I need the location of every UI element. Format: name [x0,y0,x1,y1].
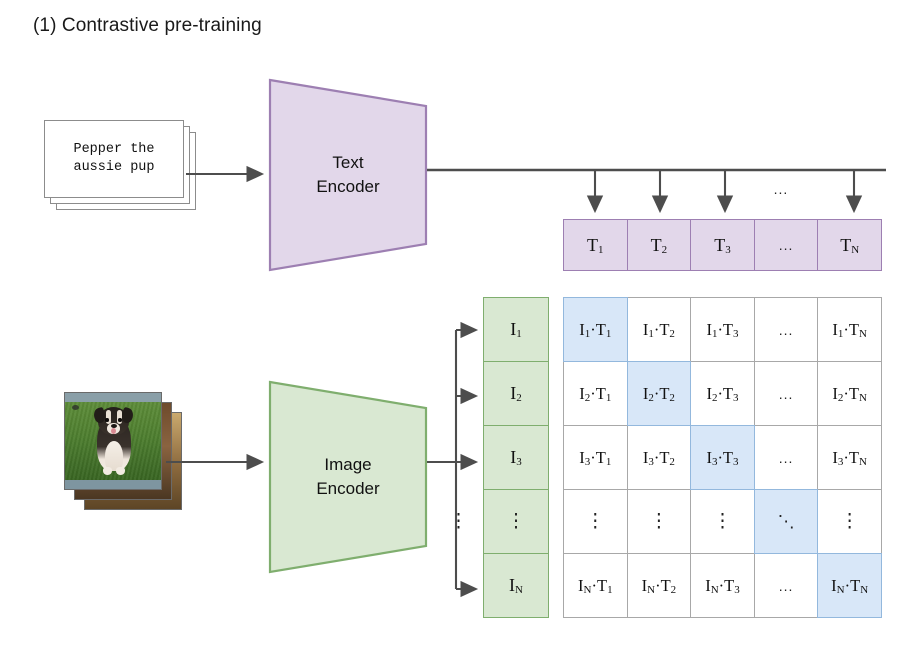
similarity-cell-label: IN·TN [831,576,868,596]
dog-tongue [111,428,116,434]
similarity-cell-hdots-r5c4[interactable]: ... [754,553,819,618]
similarity-cell-label: I1·TN [832,320,867,340]
similarity-cell-label: I1·T1 [579,320,611,340]
similarity-cell-i3-tN[interactable]: I3·TN [817,425,882,490]
subscript: 2 [662,244,668,256]
page-title: (1) Contrastive pre-training [33,15,262,37]
photo-bottom-band [65,480,161,489]
text-encoder-label: Text Encoder [316,151,379,199]
matrix-ellipsis: ⋮ [713,512,732,531]
similarity-cell-hdots-r2c4[interactable]: ... [754,361,819,426]
text-embedding-cell-2[interactable]: T2 [627,219,692,271]
dog-eye-left [105,418,109,422]
vertical-ellipsis: ⋮ [507,512,526,531]
similarity-cell-label: I3·T1 [579,448,611,468]
subscript: 2 [516,392,522,404]
similarity-cell-i3-t2[interactable]: I3·T2 [627,425,692,490]
image-embedding-column: I1I2I3⋮IN [483,297,549,618]
dog-paw-left [103,467,112,475]
matrix-ellipsis: ⋮ [649,512,668,531]
similarity-cell-vdots-r4c3[interactable]: ⋮ [690,489,755,554]
subscript: N [515,584,523,596]
image-embedding-cell-3[interactable]: I3 [483,425,549,490]
matrix-row: I2·T1I2·T2I2·T3...I2·TN [563,361,882,426]
matrix-row: ⋮⋮⋮⋱⋮ [563,489,882,554]
similarity-cell-iN-t3[interactable]: IN·T3 [690,553,755,618]
text-embedding-cell-3[interactable]: T3 [690,219,755,271]
matrix-ellipsis: ⋮ [586,512,605,531]
similarity-cell-label: I2·TN [832,384,867,404]
similarity-cell-iN-t2[interactable]: IN·T2 [627,553,692,618]
similarity-cell-label: IN·T3 [705,576,740,596]
similarity-cell-vdots-r4c5[interactable]: ⋮ [817,489,882,554]
matrix-ellipsis: ⋮ [840,512,859,531]
similarity-cell-vdots-r4c1[interactable]: ⋮ [563,489,628,554]
dog-blaze-right [117,410,122,424]
similarity-cell-label: I3·T3 [706,448,738,468]
similarity-cell-label: I1·T2 [643,320,675,340]
similarity-cell-iN-tN[interactable]: IN·TN [817,553,882,618]
image-embedding-cell-vdots[interactable]: ⋮ [483,489,549,554]
matrix-ellipsis: ... [779,386,794,402]
dog-paw-right [116,467,125,475]
text-embedding-cell-1[interactable]: T1 [563,219,628,271]
similarity-cell-i2-tN[interactable]: I2·TN [817,361,882,426]
image-encoder-label: Image Encoder [316,453,379,501]
matrix-ellipsis: ⋱ [778,513,795,530]
matrix-row: I3·T1I3·T2I3·T3...I3·TN [563,425,882,490]
similarity-cell-i1-t3[interactable]: I1·T3 [690,297,755,362]
similarity-cell-iN-t1[interactable]: IN·T1 [563,553,628,618]
similarity-cell-vdots-r4c2[interactable]: ⋮ [627,489,692,554]
similarity-cell-label: IN·T2 [642,576,677,596]
similarity-cell-i3-t3[interactable]: I3·T3 [690,425,755,490]
image-encoder-block[interactable]: Image Encoder [268,380,428,574]
subscript: N [851,244,859,256]
matrix-ellipsis: ... [779,450,794,466]
matrix-ellipsis: ... [779,578,794,594]
dog-blaze-left [106,410,111,424]
similarity-cell-ddots-r4c4[interactable]: ⋱ [754,489,819,554]
dog-photo-scene [65,393,161,489]
similarity-cell-label: IN·T1 [578,576,613,596]
subscript: 3 [725,244,731,256]
subscript: 1 [598,244,604,256]
matrix-ellipsis: ... [779,322,794,338]
text-card-front [44,120,184,198]
image-branch-vdots: ⋮ [449,512,463,531]
text-embedding-cell-ellipsis[interactable]: ... [754,219,819,271]
similarity-cell-label: I3·T2 [643,448,675,468]
similarity-cell-i2-t1[interactable]: I2·T1 [563,361,628,426]
similarity-cell-label: I2·T1 [579,384,611,404]
text-encoder-block[interactable]: Text Encoder [268,78,428,272]
similarity-cell-hdots-r3c4[interactable]: ... [754,425,819,490]
similarity-cell-label: I2·T3 [706,384,738,404]
text-trunk-ellipsis: ... [757,181,805,197]
image-embedding-cell-N[interactable]: IN [483,553,549,618]
similarity-cell-label: I1·T3 [706,320,738,340]
image-thumb-front-dog-photo [64,392,162,490]
photo-speck [72,405,79,410]
similarity-cell-i3-t1[interactable]: I3·T1 [563,425,628,490]
subscript: 3 [516,456,522,468]
similarity-cell-i1-tN[interactable]: I1·TN [817,297,882,362]
similarity-cell-i2-t3[interactable]: I2·T3 [690,361,755,426]
matrix-row: I1·T1I1·T2I1·T3...I1·TN [563,297,882,362]
similarity-cell-i1-t2[interactable]: I1·T2 [627,297,692,362]
image-embedding-cell-1[interactable]: I1 [483,297,549,362]
matrix-row: IN·T1IN·T2IN·T3...IN·TN [563,553,882,618]
similarity-cell-i1-t1[interactable]: I1·T1 [563,297,628,362]
similarity-cell-label: I3·TN [832,448,867,468]
image-embedding-cell-2[interactable]: I2 [483,361,549,426]
subscript: 1 [516,328,522,340]
dog-eye-right [118,418,122,422]
text-embedding-row: T1T2T3...TN [563,219,882,271]
ellipsis: ... [779,237,794,253]
similarity-cell-label: I2·T2 [643,384,675,404]
text-embedding-cell-N[interactable]: TN [817,219,882,271]
similarity-cell-hdots-r1c4[interactable]: ... [754,297,819,362]
similarity-cell-i2-t2[interactable]: I2·T2 [627,361,692,426]
photo-top-band [65,393,161,402]
similarity-matrix: I1·T1I1·T2I1·T3...I1·TNI2·T1I2·T2I2·T3..… [563,297,882,618]
diagram-canvas: (1) Contrastive pre-training Pepper the … [0,0,906,654]
